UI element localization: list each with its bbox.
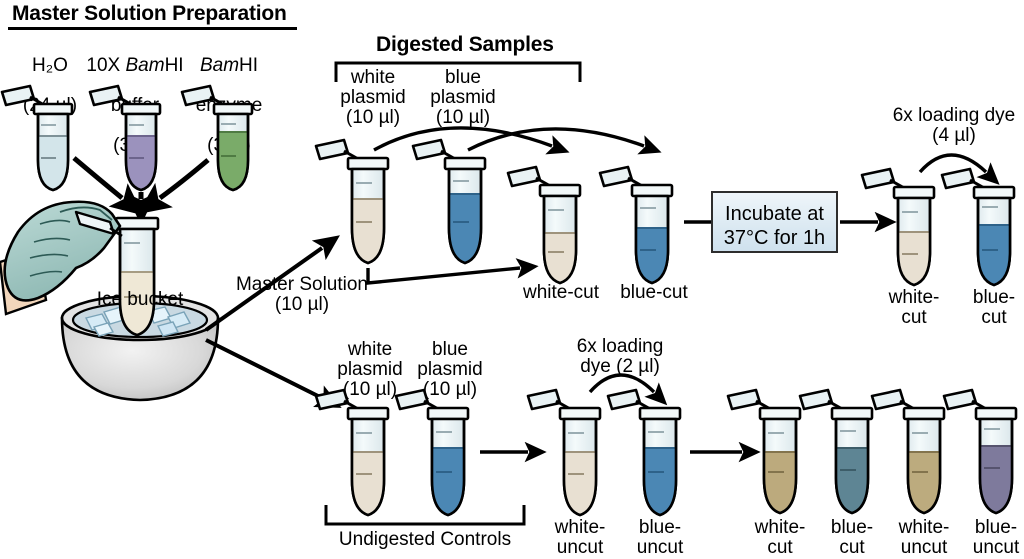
label-master-solution: Master Solution (10 µl)	[216, 275, 388, 315]
diagram-canvas: Master Solution Preparation H₂O (24 µl) …	[0, 0, 1024, 559]
label-final-blue-cut: blue- cut	[814, 518, 890, 558]
label-undigest-white-plasmid: white plasmid (10 µl)	[325, 340, 415, 400]
tube-digest-white-plasmid	[316, 140, 388, 269]
tube-undigest-blue-plasmid	[396, 390, 468, 523]
label-white-uncut: white- uncut	[542, 518, 618, 558]
label-final-white-uncut: white- uncut	[886, 518, 962, 558]
label-digest-blue-plasmid: blue plasmid (10 µl)	[418, 68, 508, 128]
label-final-dye-white-cut: white- cut	[878, 288, 950, 328]
label-loading-dye-bottom: 6x loading dye (2 µl)	[549, 337, 691, 377]
tube-white-cut	[508, 167, 580, 293]
tube-digest-blue-plasmid	[413, 140, 485, 269]
digested-samples-title: Digested Samples	[376, 33, 554, 57]
tube-final-dye-blue-cut	[942, 169, 1014, 293]
label-blue-cut: blue-cut	[604, 283, 704, 303]
undigested-bracket	[326, 505, 524, 524]
arrow-loading-dye-top	[920, 155, 986, 172]
label-white-cut: white-cut	[503, 283, 619, 303]
tube-final-white-uncut	[872, 390, 944, 522]
tube-blue-uncut	[608, 390, 680, 523]
label-undigest-blue-plasmid: blue plasmid (10 µl)	[405, 340, 495, 400]
tube-undigest-white-plasmid	[316, 390, 388, 522]
label-blue-uncut: blue- uncut	[622, 518, 698, 558]
tube-blue-cut	[600, 167, 672, 293]
label-digest-white-plasmid: white plasmid (10 µl)	[328, 68, 418, 128]
label-final-dye-blue-cut: blue- cut	[958, 288, 1024, 328]
label-loading-dye-top: 6x loading dye (4 µl)	[884, 106, 1024, 146]
master-into-cut-arrow	[368, 268, 520, 283]
tube-h2o	[2, 86, 72, 196]
label-final-white-cut: white- cut	[742, 518, 818, 558]
tube-final-dye-white-cut	[862, 169, 934, 292]
tube-final-white-cut	[728, 390, 800, 522]
tube-white-uncut	[528, 390, 600, 522]
master-solution-split-arrows	[206, 248, 322, 398]
arrow-loading-dye-bottom	[590, 375, 654, 392]
label-final-blue-uncut: blue- uncut	[958, 518, 1024, 558]
tube-final-blue-uncut	[944, 390, 1016, 520]
tube-final-blue-cut	[800, 390, 872, 520]
tube-bamhi-enzyme	[182, 86, 252, 194]
diagram-graphics	[0, 0, 1024, 559]
incubate-step-box: Incubate at 37°C for 1h	[711, 191, 838, 253]
label-undigested-controls: Undigested Controls	[330, 530, 520, 550]
label-ice-bucket: Ice bucket	[60, 290, 220, 310]
